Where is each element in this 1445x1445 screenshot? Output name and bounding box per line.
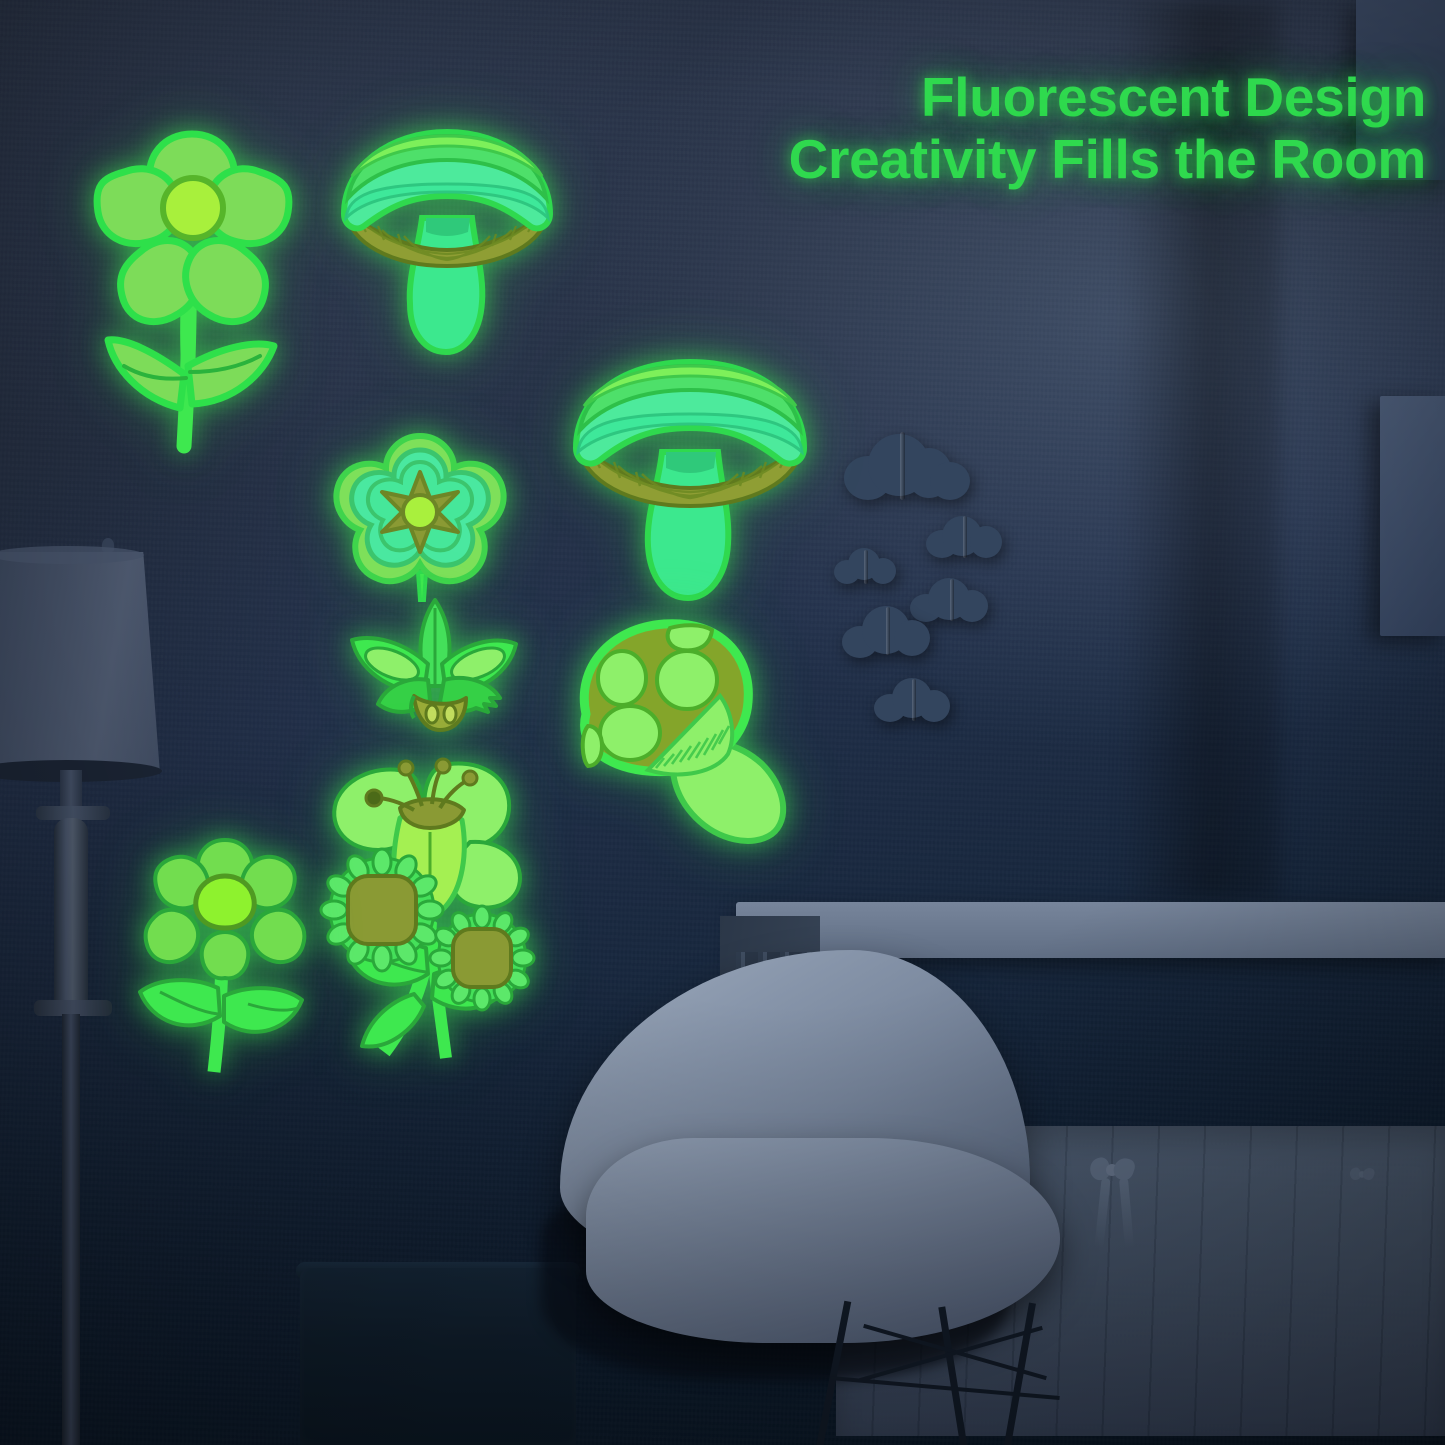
decal-leaf-cluster [344, 594, 526, 739]
cloud-mobile [820, 420, 1050, 750]
lamp-column [54, 818, 88, 1008]
decal-daisy-flower-large [88, 116, 298, 456]
lamp-pole [62, 1014, 80, 1445]
decal-daisy-flower-small [130, 836, 320, 1076]
cloud-shape [926, 514, 1004, 560]
crib-bow [1350, 1168, 1374, 1182]
cloud-shape [842, 606, 930, 660]
decal-mushroom-striped-top [334, 126, 560, 366]
cloud-shape [844, 428, 970, 502]
decal-sunflower-cluster [322, 762, 540, 1067]
decal-mushroom-spotted [552, 618, 802, 848]
chair-crossbar [830, 1376, 1059, 1400]
lamp-shade [0, 552, 160, 774]
shell-chair [530, 950, 1050, 1445]
cloud-shape [834, 548, 896, 586]
decal-mushroom-striped-large [566, 356, 814, 611]
cloud-shape [874, 678, 950, 724]
chair-seat [586, 1138, 1060, 1343]
wall-shelf-lower [1380, 396, 1445, 636]
wall-corner-shadow [1120, 0, 1280, 900]
decal-star-flower [330, 432, 510, 602]
product-scene: Fluorescent Design Creativity Fills the … [0, 0, 1445, 1445]
wall-shelf-upper [1356, 0, 1445, 180]
